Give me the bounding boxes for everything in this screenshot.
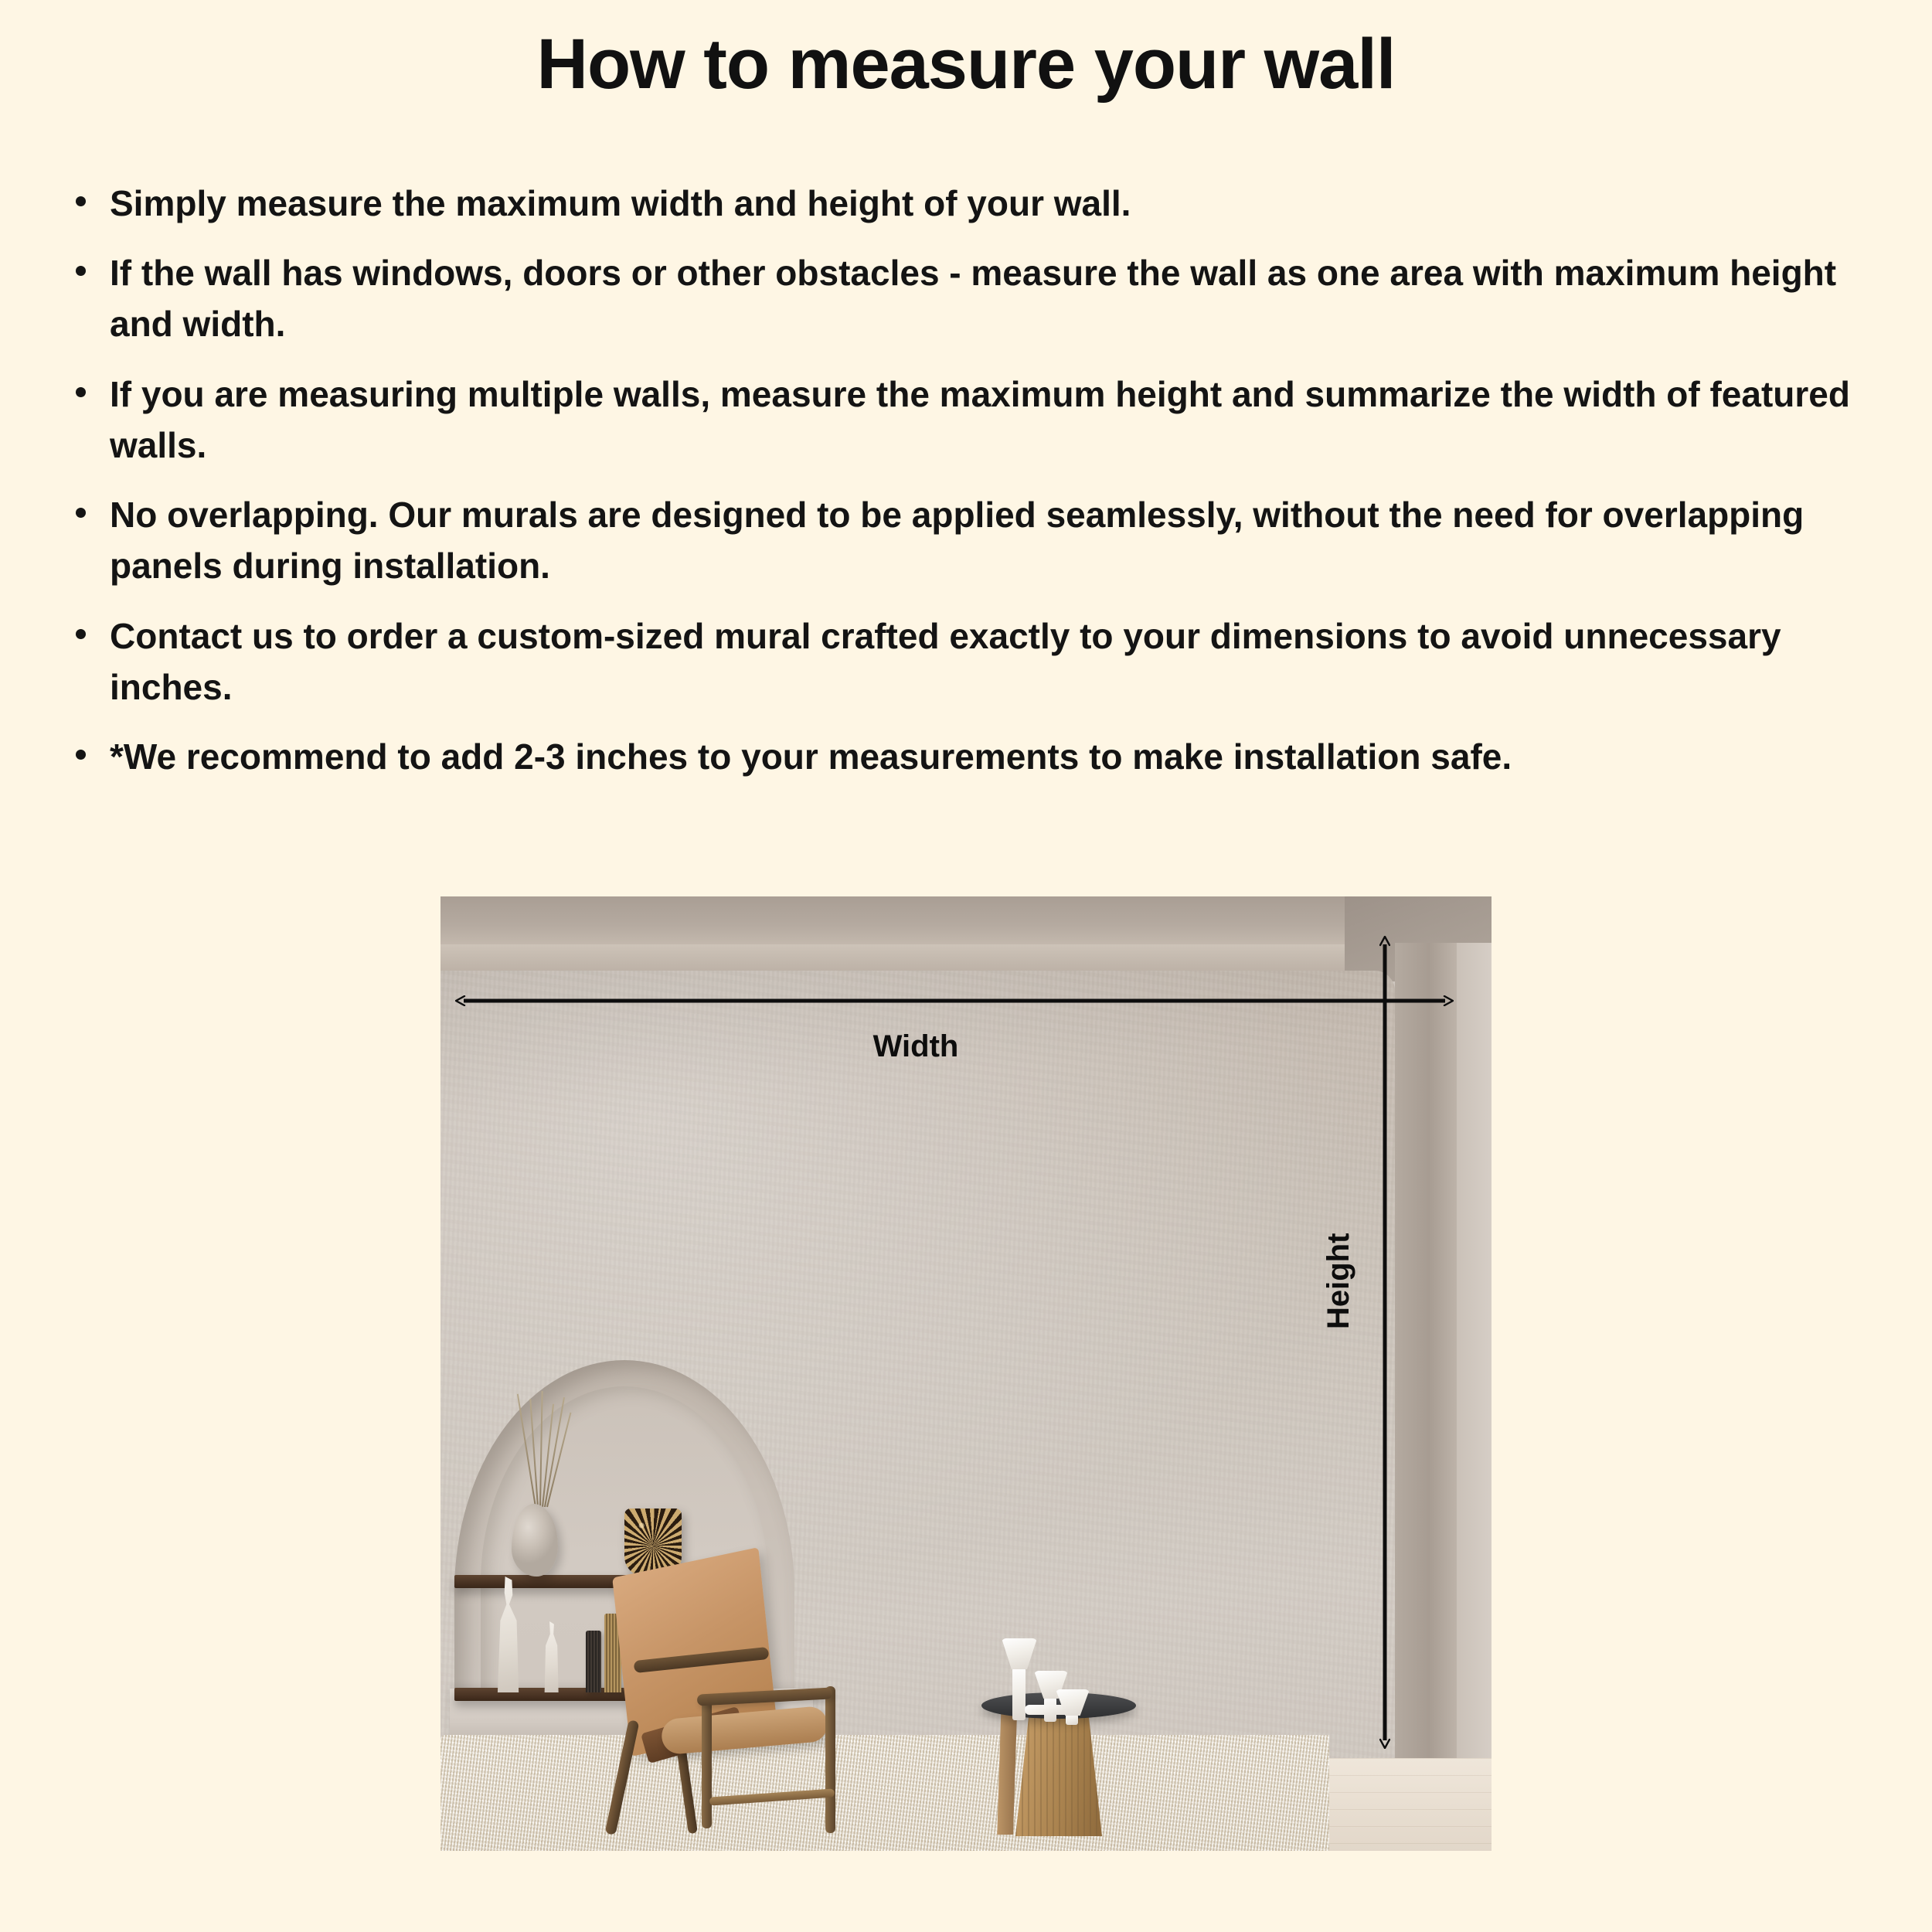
list-item: No overlapping. Our murals are designed …	[62, 489, 1886, 591]
chair-arm-post-right	[825, 1686, 835, 1833]
side-table	[981, 1692, 1136, 1851]
list-item: *We recommend to add 2-3 inches to your …	[62, 731, 1886, 782]
dried-reeds	[515, 1391, 561, 1507]
chair-leg-front	[605, 1719, 640, 1835]
list-item-text: If you are measuring multiple walls, mea…	[110, 374, 1850, 465]
candle-holder-short-stem	[1066, 1714, 1078, 1725]
wall-measurement-photo: Width Height	[440, 896, 1492, 1851]
list-item: If the wall has windows, doors or other …	[62, 247, 1886, 349]
bullet-dot-icon	[76, 266, 86, 276]
wall-side-return	[1395, 943, 1457, 1808]
ceiling	[440, 896, 1492, 944]
list-item-text: If the wall has windows, doors or other …	[110, 253, 1836, 344]
bullet-dot-icon	[76, 387, 86, 397]
bullet-dot-icon	[76, 629, 86, 639]
background-wall	[1457, 943, 1492, 1797]
list-item-text: Contact us to order a custom-sized mural…	[110, 616, 1781, 707]
list-item: Simply measure the maximum width and hei…	[62, 178, 1886, 229]
side-table-base	[1015, 1711, 1102, 1836]
side-table-leg	[995, 1713, 1017, 1835]
bullet-dot-icon	[76, 508, 86, 518]
room-scene	[440, 896, 1492, 1851]
bullet-dot-icon	[76, 196, 86, 206]
leather-sling-chair	[572, 1561, 920, 1851]
instructions-list: Simply measure the maximum width and hei…	[62, 178, 1886, 801]
page-root: How to measure your wall Simply measure …	[0, 0, 1932, 1932]
list-item-text: No overlapping. Our murals are designed …	[110, 495, 1804, 586]
chair-stretcher	[709, 1788, 835, 1805]
candle-holder-tall-stem	[1012, 1668, 1026, 1720]
list-item: Contact us to order a custom-sized mural…	[62, 611, 1886, 713]
chair-arm-post-left	[702, 1697, 712, 1828]
list-item: If you are measuring multiple walls, mea…	[62, 369, 1886, 471]
ceiling-shadow	[440, 944, 1492, 971]
list-item-text: *We recommend to add 2-3 inches to your …	[110, 736, 1512, 777]
page-title: How to measure your wall	[0, 22, 1932, 107]
bullet-dot-icon	[76, 750, 86, 760]
list-item-text: Simply measure the maximum width and hei…	[110, 183, 1131, 223]
